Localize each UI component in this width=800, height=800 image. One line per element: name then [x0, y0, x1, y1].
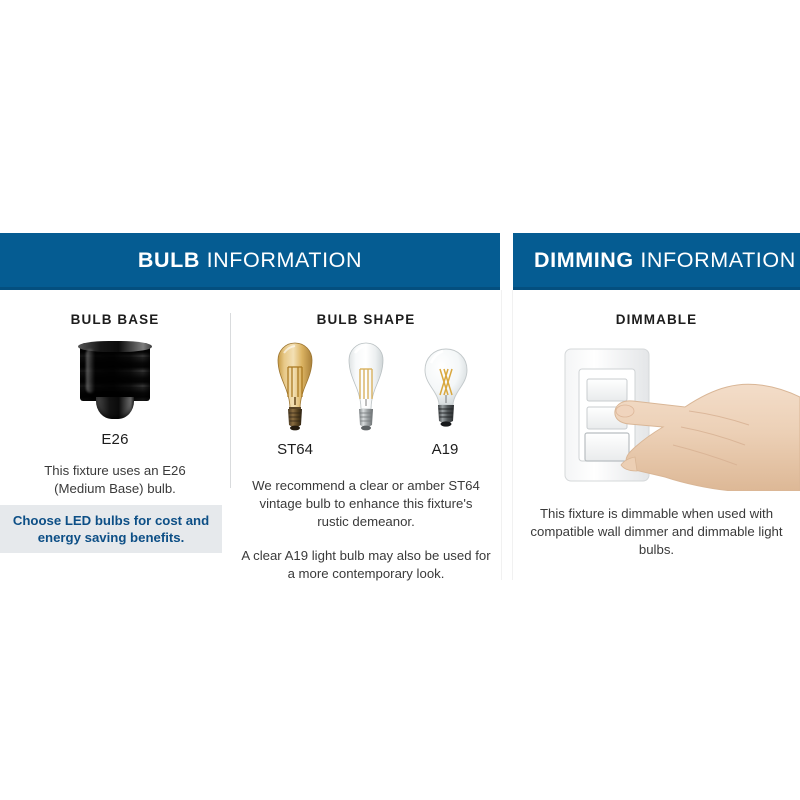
amber-st64-bulb-icon — [264, 341, 326, 433]
panel-separator-line-left — [501, 290, 502, 580]
bulb-base-heading: BULB BASE — [0, 312, 230, 327]
dimming-information-title: DIMMING INFORMATION — [534, 248, 796, 273]
header-row: BULB INFORMATION DIMMING INFORMATION — [0, 233, 800, 290]
dimming-information-header: DIMMING INFORMATION — [513, 233, 800, 290]
clear-st64-bulb-icon — [335, 341, 397, 433]
bulb-base-caption: E26 — [0, 431, 230, 448]
bulb-columns-divider — [230, 313, 231, 488]
e26-contact-tip — [96, 397, 134, 419]
bulb-information-header: BULB INFORMATION — [0, 233, 500, 290]
bulb-shape-column: BULB SHAPE — [232, 290, 500, 583]
dimming-information-panel: DIMMABLE — [513, 290, 800, 590]
bulb-label-a19: A19 — [410, 441, 480, 458]
bulb-information-panel: BULB BASE E26 This fixture uses an E26 (… — [0, 290, 500, 590]
bulb-shape-paragraph-1: We recommend a clear or amber ST64 vinta… — [232, 477, 500, 531]
bulb-information-infographic: BULB INFORMATION DIMMING INFORMATION BUL… — [0, 0, 800, 800]
dimmable-heading: DIMMABLE — [513, 312, 800, 327]
dimmer-switch-illustration — [513, 341, 800, 491]
dimming-information-title-light: INFORMATION — [640, 248, 796, 272]
led-tip-text: Choose LED bulbs for cost and energy sav… — [0, 512, 222, 546]
e26-highlight — [86, 349, 95, 393]
bulb-shape-images — [232, 341, 500, 433]
bulb-information-title: BULB INFORMATION — [138, 248, 362, 273]
bulb-information-title-light: INFORMATION — [207, 248, 363, 272]
bulb-information-title-strong: BULB — [138, 248, 200, 272]
bulb-shape-paragraph-2: A clear A19 light bulb may also be used … — [232, 547, 500, 583]
led-tip-box: Choose LED bulbs for cost and energy sav… — [0, 505, 222, 553]
bulb-base-column: BULB BASE E26 This fixture uses an E26 (… — [0, 290, 230, 498]
bulb-label-st64: ST64 — [260, 441, 330, 458]
bulb-shape-heading: BULB SHAPE — [232, 312, 500, 327]
clear-a19-bulb-icon — [415, 347, 477, 431]
wall-dimmer-switch-image — [513, 341, 800, 491]
dimming-information-title-strong: DIMMING — [534, 248, 634, 272]
bulb-shape-labels: ST64 A19 — [232, 441, 500, 463]
bulb-base-e26-icon — [72, 343, 158, 421]
bulb-base-description: This fixture uses an E26 (Medium Base) b… — [0, 462, 230, 498]
dimming-description: This fixture is dimmable when used with … — [513, 505, 800, 559]
